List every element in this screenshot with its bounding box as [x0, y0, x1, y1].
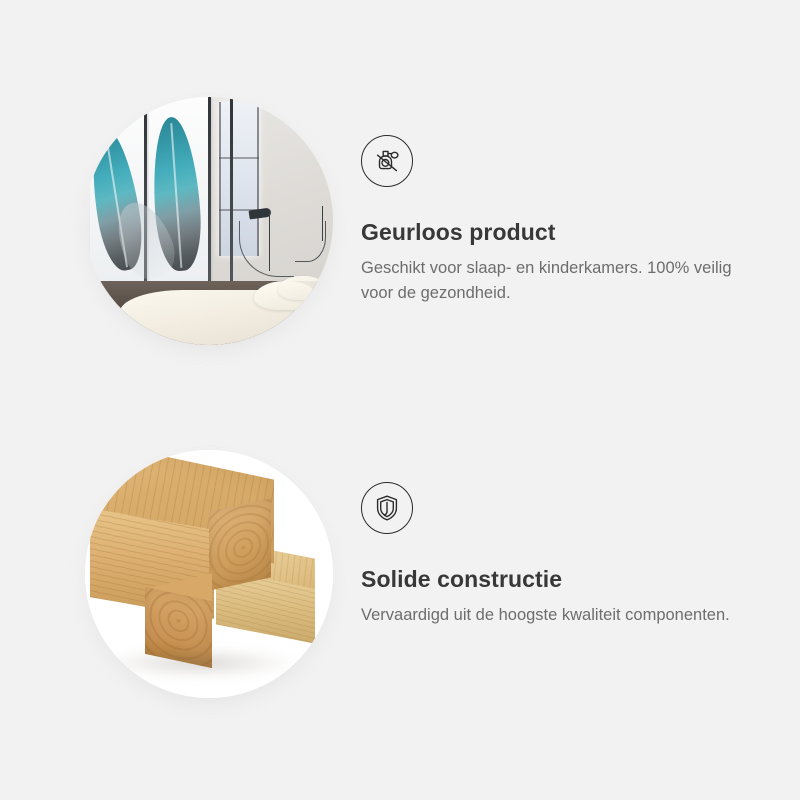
no-fragrance-icon [361, 135, 413, 187]
feature-title: Geurloos product [361, 219, 761, 247]
feature-text-column: Geurloos product Geschikt voor slaap- en… [361, 97, 761, 307]
canvas-panel-edge [208, 97, 211, 290]
feature-block-solide-constructie: Solide constructie Vervaardigd uit de ho… [0, 450, 800, 698]
feature-text-column: Solide constructie Vervaardigd uit de ho… [361, 450, 761, 628]
circular-photo-frame [85, 450, 333, 698]
shield-icon [361, 482, 413, 534]
circular-photo-frame [85, 97, 333, 345]
feature-page: Geurloos product Geschikt voor slaap- en… [0, 0, 800, 800]
wooden-blocks-scene [85, 450, 333, 698]
feature-title: Solide constructie [361, 566, 761, 594]
feature-description: Vervaardigd uit de hoogste kwaliteit com… [361, 603, 746, 629]
bedroom-scene [85, 97, 333, 345]
feature-block-geurloos-product: Geurloos product Geschikt voor slaap- en… [0, 97, 800, 345]
bed-pillow [278, 276, 328, 301]
bedside-lamp-pole [269, 211, 271, 271]
wood-contact-shadow [100, 648, 298, 678]
feature-image-bedroom-feather-canvas [85, 97, 333, 345]
feature-description: Geschikt voor slaap- en kinderkamers. 10… [361, 256, 746, 307]
canvas-panel-edge [230, 97, 233, 290]
wood-beam-end-grain [209, 498, 271, 591]
feature-image-wooden-blocks [85, 450, 333, 698]
